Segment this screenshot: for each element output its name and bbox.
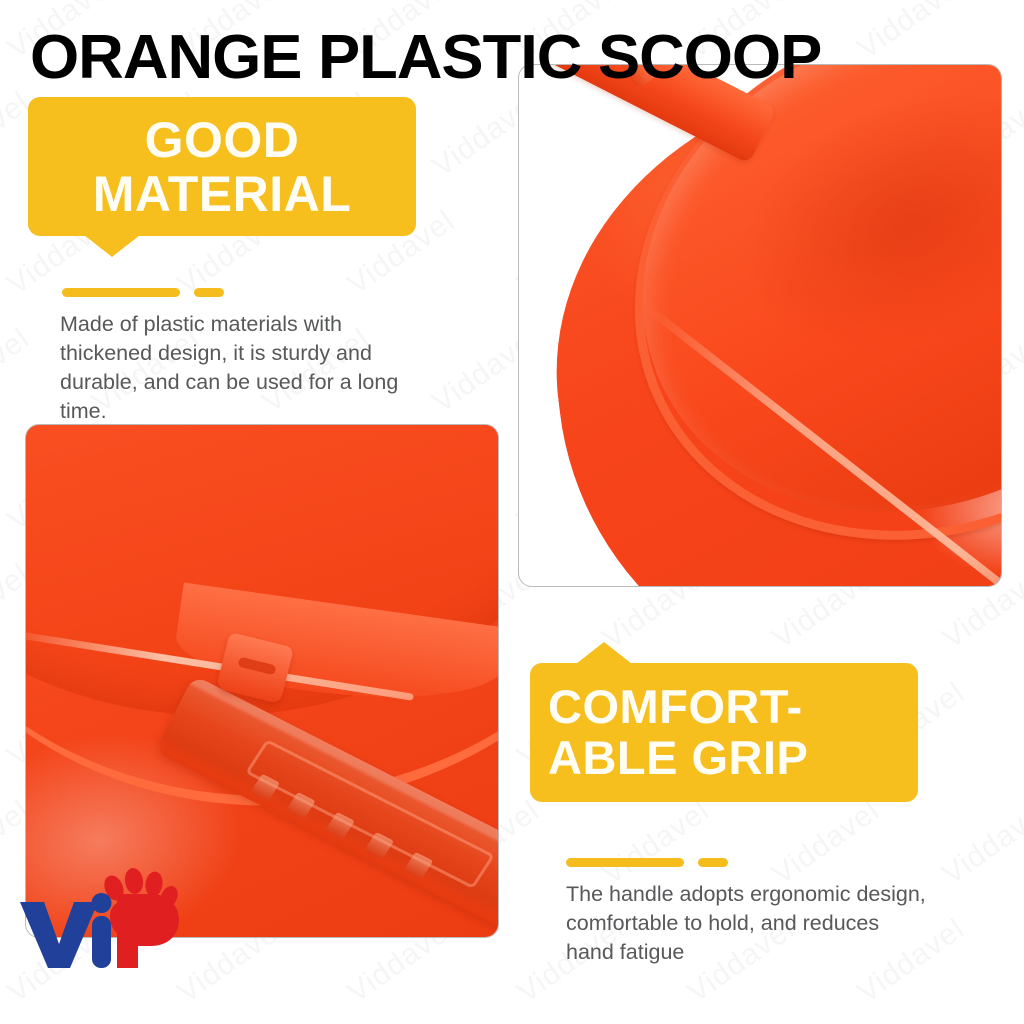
divider-good-material: [62, 288, 224, 297]
logo-letter-i-dot: [92, 893, 112, 913]
watermark-text: Viddavel: [936, 794, 1024, 892]
logo-letter-i: [92, 916, 111, 968]
watermark-text: Viddavel: [766, 794, 886, 892]
badge-tail-down-icon: [84, 235, 140, 257]
brand-logo-vip: [14, 862, 184, 972]
photo-top-content: [519, 65, 1001, 586]
divider-dash-long: [566, 858, 684, 867]
product-photo-handle: [25, 424, 499, 938]
divider-comfortable-grip: [566, 858, 728, 867]
feature-badge-good-material: GOOD MATERIAL: [28, 97, 416, 236]
feature-badge-comfortable-grip-label: COMFORT- ABLE GRIP: [548, 682, 808, 784]
feature-badge-good-material-label: GOOD MATERIAL: [93, 113, 352, 221]
feature-description-comfortable-grip: The handle adopts ergonomic design, comf…: [566, 880, 928, 967]
watermark-text: Viddavel: [0, 322, 36, 420]
watermark-text: Viddavel: [596, 794, 716, 892]
divider-dash-short: [194, 288, 224, 297]
feature-badge-comfortable-grip: COMFORT- ABLE GRIP: [530, 663, 918, 802]
page-title: ORANGE PLASTIC SCOOP: [30, 27, 1024, 89]
photo-bottom-content: [26, 425, 498, 937]
logo-letter-p: [117, 894, 179, 968]
product-photo-bowl: [518, 64, 1002, 587]
divider-dash-long: [62, 288, 180, 297]
logo-letter-v: [20, 902, 98, 968]
divider-dash-short: [698, 858, 728, 867]
infographic-canvas: ViddavelViddavelViddavelViddavelViddavel…: [0, 0, 1024, 1024]
feature-description-good-material: Made of plastic materials with thickened…: [60, 310, 410, 426]
badge-tail-up-icon: [576, 642, 632, 664]
